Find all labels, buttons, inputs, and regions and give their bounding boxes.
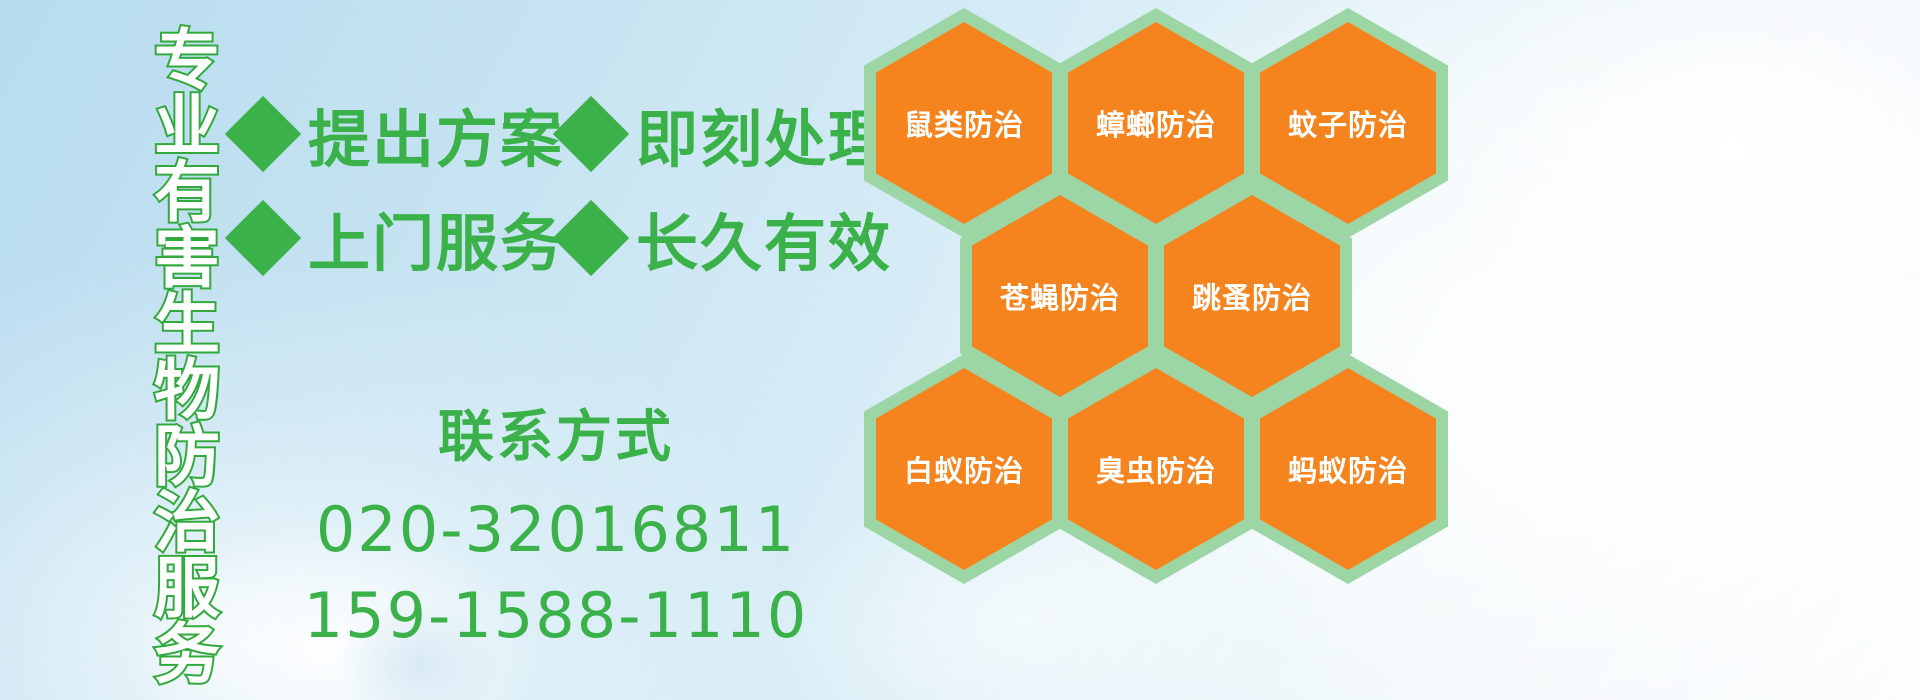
hex-inner: 跳蚤防治 [1164, 195, 1340, 397]
feature-row-2: 上门服务 长久有效 [236, 186, 866, 290]
hex-label: 蚊子防治 [1288, 102, 1408, 144]
phone-number-landline[interactable]: 020-32016811 [236, 487, 876, 573]
contact-block: 联系方式 020-32016811 159-1588-1110 [236, 392, 876, 659]
feature-label: 长久有效 [636, 193, 892, 283]
diamond-icon [225, 96, 301, 172]
phone-number-mobile[interactable]: 159-1588-1110 [236, 573, 876, 659]
feature-item-immediate-handling: 即刻处理 [564, 89, 892, 179]
hex-inner: 白蚁防治 [876, 368, 1052, 570]
hex-inner: 蟑螂防治 [1068, 22, 1244, 224]
hex-inner: 臭虫防治 [1068, 368, 1244, 570]
feature-row-1: 提出方案 即刻处理 [236, 82, 866, 186]
feature-label: 即刻处理 [636, 89, 892, 179]
background-glow-top-right [1420, 0, 1920, 360]
feature-item-long-lasting-effect: 长久有效 [564, 193, 892, 283]
feature-item-door-to-door-service: 上门服务 [236, 193, 564, 283]
feature-label: 提出方案 [308, 89, 564, 179]
hex-label: 白蚁防治 [904, 448, 1024, 490]
hex-label: 鼠类防治 [904, 102, 1024, 144]
hex-inner: 苍蝇防治 [972, 195, 1148, 397]
hex-label: 蟑螂防治 [1096, 102, 1216, 144]
vertical-title: 专业有害生物防治服务 [118, 10, 214, 700]
pest-control-banner: 专业有害生物防治服务 提出方案 即刻处理 上门服务 长久有效 [0, 0, 1920, 700]
hex-label: 跳蚤防治 [1192, 275, 1312, 317]
feature-item-propose-plan: 提出方案 [236, 89, 564, 179]
feature-list: 提出方案 即刻处理 上门服务 长久有效 [236, 82, 866, 290]
diamond-icon [553, 200, 629, 276]
feature-label: 上门服务 [308, 193, 564, 283]
hex-label: 蚂蚁防治 [1288, 448, 1408, 490]
diamond-icon [225, 200, 301, 276]
hex-inner: 蚂蚁防治 [1260, 368, 1436, 570]
service-hexagon-grid: 鼠类防治 蟑螂防治 蚊子防治 苍蝇防治 跳蚤防治 白蚁防治 [860, 0, 1460, 700]
diamond-icon [553, 96, 629, 172]
hex-label: 臭虫防治 [1096, 448, 1216, 490]
contact-label: 联系方式 [236, 392, 876, 473]
hex-inner: 鼠类防治 [876, 22, 1052, 224]
hex-label: 苍蝇防治 [1000, 275, 1120, 317]
hex-inner: 蚊子防治 [1260, 22, 1436, 224]
